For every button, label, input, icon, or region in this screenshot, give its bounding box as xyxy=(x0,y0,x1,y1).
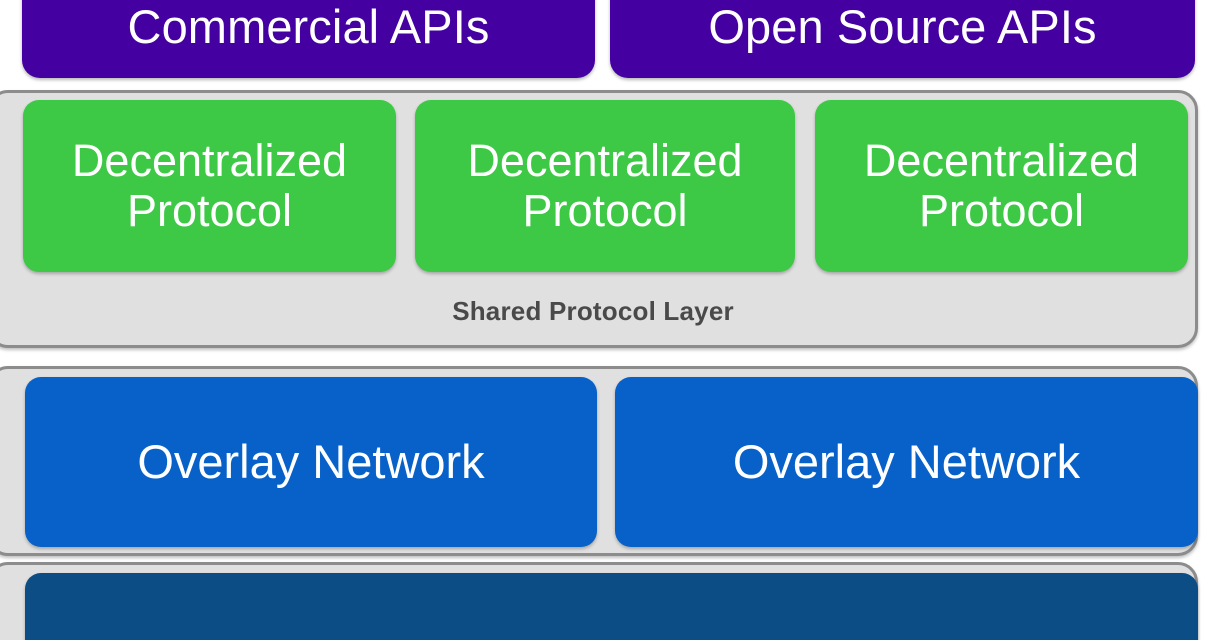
overlay-network-layer-panel: Overlay Network Overlay Network xyxy=(0,366,1198,556)
overlay-network-node-1[interactable]: Overlay Network xyxy=(25,377,597,547)
substrate-layer-panel xyxy=(0,562,1198,640)
protocol-node-1-label: Decentralized Protocol xyxy=(72,136,347,237)
shared-protocol-layer-panel: Decentralized Protocol Decentralized Pro… xyxy=(0,90,1198,348)
shared-protocol-layer-caption-text: Shared Protocol Layer xyxy=(452,296,734,327)
api-node-commercial[interactable]: Commercial APIs xyxy=(22,0,595,78)
protocol-node-1[interactable]: Decentralized Protocol xyxy=(23,100,396,272)
overlay-network-node-1-label: Overlay Network xyxy=(137,436,484,489)
api-node-commercial-label: Commercial APIs xyxy=(128,1,490,54)
api-node-open-source-label: Open Source APIs xyxy=(708,1,1096,54)
protocol-node-3[interactable]: Decentralized Protocol xyxy=(815,100,1188,272)
protocol-node-2-label: Decentralized Protocol xyxy=(467,136,742,237)
architecture-diagram: Commercial APIs Open Source APIs Decentr… xyxy=(0,0,1210,640)
protocol-node-2[interactable]: Decentralized Protocol xyxy=(415,100,795,272)
substrate-node-1[interactable] xyxy=(25,573,1198,640)
protocol-node-3-label: Decentralized Protocol xyxy=(864,136,1139,237)
api-node-open-source[interactable]: Open Source APIs xyxy=(610,0,1195,78)
shared-protocol-layer-caption: Shared Protocol Layer xyxy=(0,289,1195,333)
overlay-network-node-2[interactable]: Overlay Network xyxy=(615,377,1198,547)
overlay-network-node-2-label: Overlay Network xyxy=(733,436,1080,489)
